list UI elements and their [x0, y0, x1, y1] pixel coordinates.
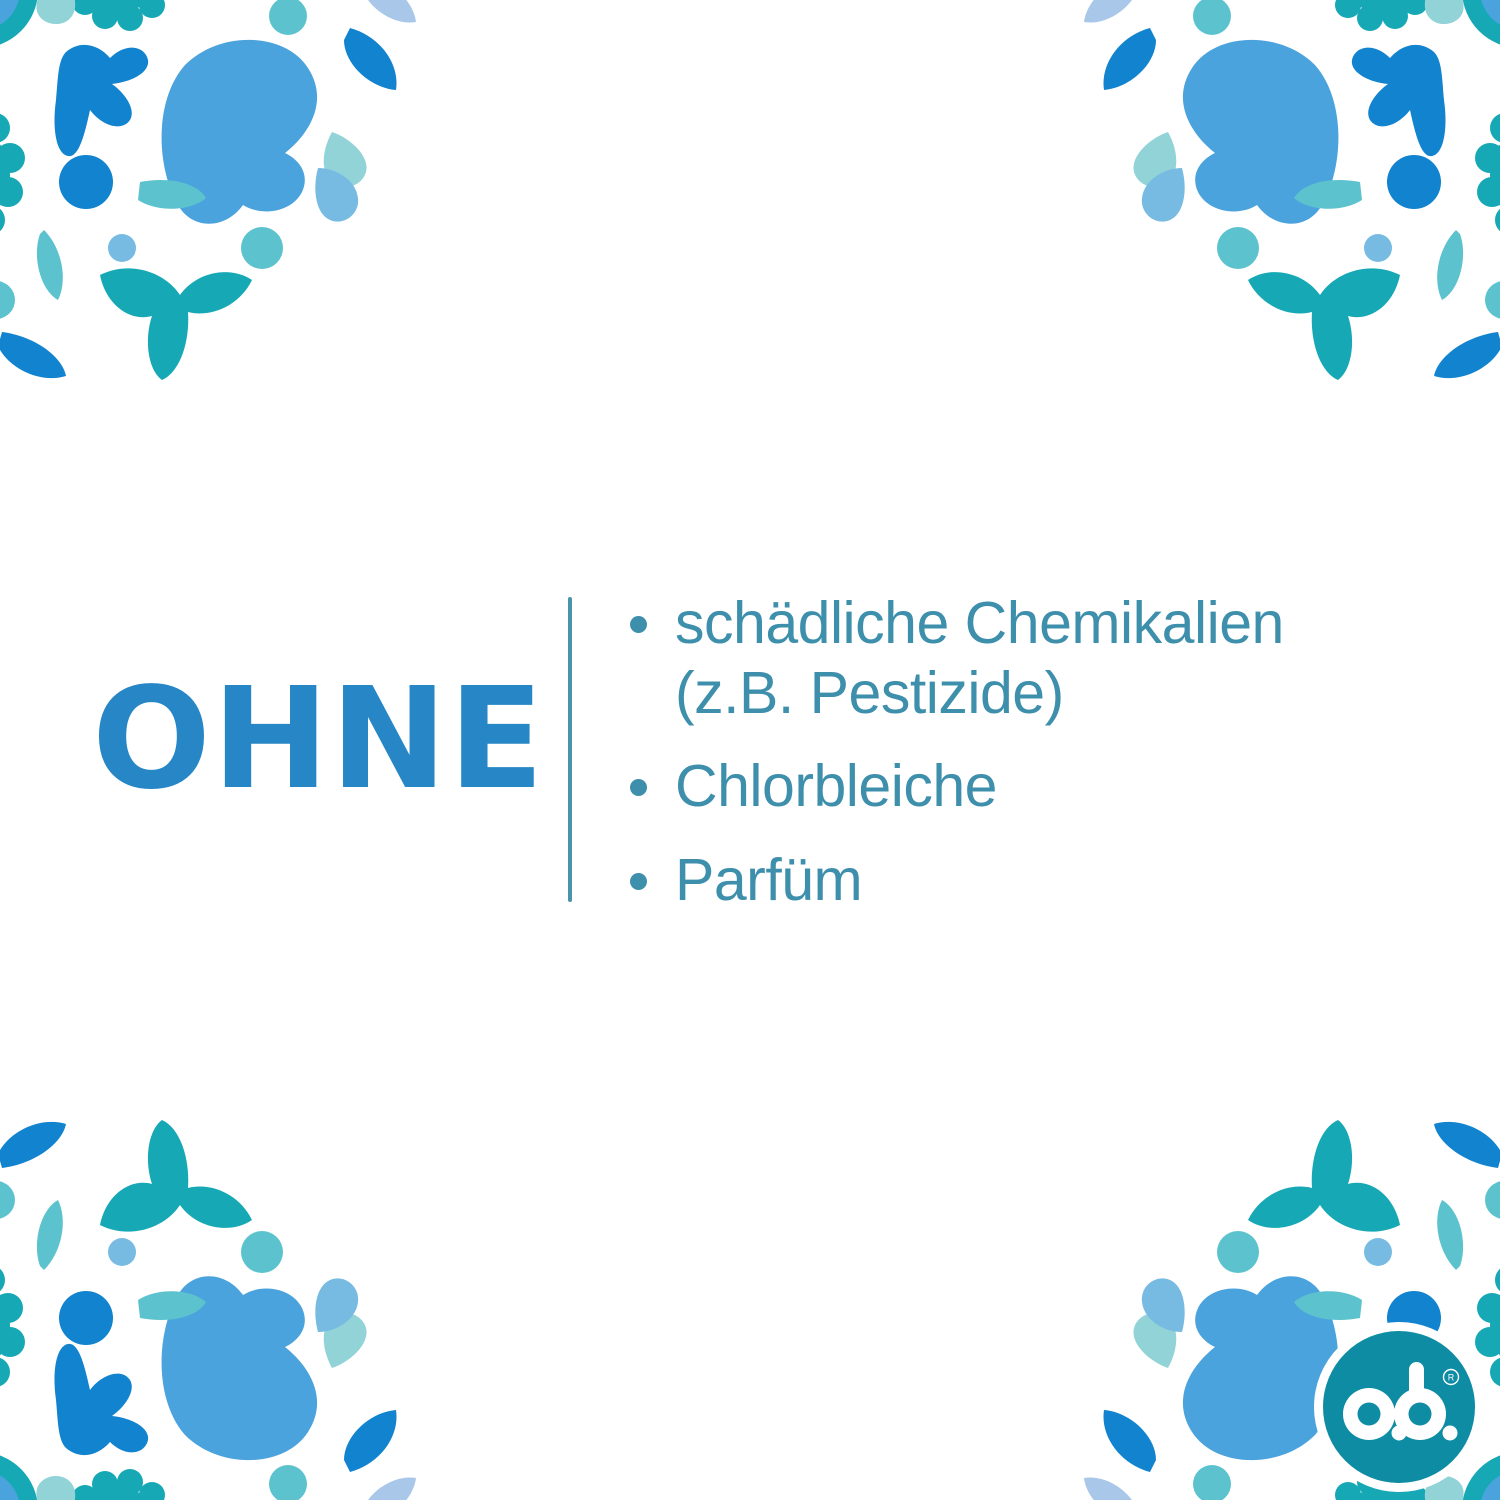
dot-shape [1364, 234, 1392, 262]
petal-shape [362, 1477, 416, 1500]
bullet-dot-icon [630, 873, 647, 890]
flower-icon [0, 0, 38, 48]
poster-canvas: OHNE schädliche Chemikalien (z.B. Pestiz… [0, 0, 1500, 1500]
leaf-shape [1434, 332, 1500, 378]
list-item: Parfüm [630, 846, 1500, 916]
bird-shape [55, 1344, 149, 1455]
dot-shape [1485, 1181, 1500, 1219]
list-item-label: Chlorbleiche [675, 752, 997, 822]
dot-shape [0, 281, 15, 319]
bullet-dot-icon [630, 779, 647, 796]
bullet-dot-icon [630, 616, 647, 633]
leaf-shape [37, 1200, 63, 1270]
leaf-shape [0, 1122, 66, 1168]
teardrop-shape [324, 1313, 367, 1368]
headline-block: OHNE [0, 575, 568, 905]
decoration-corner-top-right [1040, 0, 1500, 380]
petal-shape [362, 0, 416, 23]
flower-icon [1475, 97, 1500, 247]
heart-shape [162, 1276, 318, 1460]
leaf-shape [138, 180, 206, 209]
dot-shape [1364, 1238, 1392, 1266]
heart-shape [162, 40, 318, 224]
flower-icon [1325, 0, 1443, 31]
teardrop-shape [1425, 0, 1464, 24]
dot-shape [1387, 155, 1441, 209]
leaf-shape [1437, 230, 1463, 300]
leaf-shape [138, 1291, 206, 1320]
list-item: schädliche Chemikalien (z.B. Pestizide) [630, 589, 1500, 728]
vertical-divider [568, 597, 572, 902]
floral-cluster [1084, 0, 1500, 380]
leaf-shape [0, 332, 66, 378]
leaf-shape [37, 230, 63, 300]
flower-icon [1462, 0, 1500, 48]
leaf-shape [344, 1410, 397, 1472]
bird-shape [55, 45, 149, 156]
floral-cluster [0, 1120, 416, 1500]
dot-shape [241, 227, 283, 269]
flower-icon [57, 1469, 175, 1500]
teardrop-shape [315, 1278, 358, 1332]
exclusion-list: schädliche Chemikalien (z.B. Pestizide) … [630, 589, 1500, 915]
teardrop-shape [36, 1476, 75, 1500]
sprout-shape [100, 1120, 252, 1232]
list-item-label: Parfüm [675, 846, 862, 916]
sprout-shape [1248, 268, 1400, 380]
petal-shape [1084, 0, 1138, 23]
dot-shape [1193, 1465, 1231, 1500]
flower-icon [0, 1452, 38, 1500]
dot-shape [1485, 281, 1500, 319]
sprout-shape [1248, 1120, 1400, 1232]
dot-shape [1193, 0, 1231, 35]
dot-shape [108, 1238, 136, 1266]
dot-shape [59, 1291, 113, 1345]
leaf-shape [1294, 1291, 1362, 1320]
petal-shape [1084, 1477, 1138, 1500]
teardrop-shape [1133, 1313, 1176, 1368]
decoration-corner-bottom-left [0, 1120, 460, 1500]
svg-text:R: R [1448, 1373, 1455, 1383]
ob-brand-logo: R [1314, 1322, 1484, 1492]
dot-shape [1217, 1231, 1259, 1273]
leaf-shape [1434, 1122, 1500, 1168]
teardrop-shape [36, 0, 75, 24]
dot-shape [269, 1465, 307, 1500]
leaf-shape [1437, 1200, 1463, 1270]
teardrop-shape [1133, 132, 1176, 187]
list-item-label: schädliche Chemikalien (z.B. Pestizide) [675, 589, 1284, 728]
leaf-shape [1103, 28, 1156, 90]
flower-icon [0, 97, 25, 247]
heart-shape [1183, 40, 1339, 224]
dot-shape [1217, 227, 1259, 269]
list-item: Chlorbleiche [630, 752, 1500, 822]
dot-shape [108, 234, 136, 262]
decoration-corner-top-left [0, 0, 460, 380]
bird-shape [1352, 45, 1446, 156]
dot-shape [241, 1231, 283, 1273]
teardrop-shape [324, 132, 367, 187]
teardrop-shape [1142, 168, 1185, 222]
sprout-shape [100, 268, 252, 380]
leaf-shape [1103, 1410, 1156, 1472]
flower-icon [57, 0, 175, 31]
flower-icon [0, 1253, 25, 1403]
dot-shape [59, 155, 113, 209]
headline-ohne: OHNE [92, 670, 545, 810]
dot-shape [0, 1181, 15, 1219]
leaf-shape [344, 28, 397, 90]
teardrop-shape [315, 168, 358, 222]
floral-cluster [0, 0, 416, 380]
teardrop-shape [1142, 1278, 1185, 1332]
main-content: OHNE schädliche Chemikalien (z.B. Pestiz… [0, 575, 1500, 915]
dot-shape [269, 0, 307, 35]
leaf-shape [1294, 180, 1362, 209]
